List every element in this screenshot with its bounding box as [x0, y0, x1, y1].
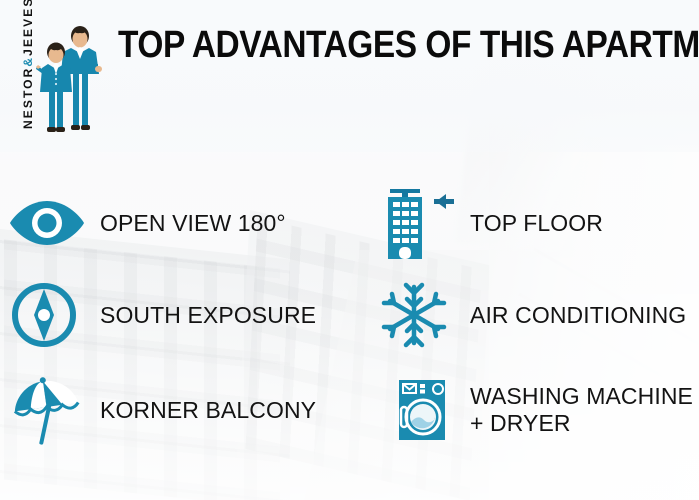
feature-washing-machine[interactable]: WASHING MACHINE + DRYER [378, 364, 698, 456]
feature-open-view[interactable]: OPEN VIEW 180° [8, 180, 368, 266]
advantages-infographic: NESTOR&JEEVES [0, 0, 699, 500]
brand-name-part2: JEEVES [21, 0, 35, 56]
feature-label-south-exposure: SOUTH EXPOSURE [100, 302, 316, 329]
beach-umbrella-icon [8, 373, 86, 447]
brand-name-part1: NESTOR [21, 67, 35, 129]
feature-top-floor[interactable]: TOP FLOOR [378, 180, 698, 266]
feature-label-korner-balcony: KORNER BALCONY [100, 397, 316, 424]
feature-korner-balcony[interactable]: KORNER BALCONY [8, 364, 368, 456]
eye-icon [8, 195, 86, 251]
brand-logo[interactable]: NESTOR&JEEVES [8, 8, 104, 140]
feature-label-air-conditioning: AIR CONDITIONING [470, 302, 686, 329]
brand-name: NESTOR&JEEVES [21, 5, 35, 129]
washing-machine-icon [378, 374, 456, 446]
feature-south-exposure[interactable]: SOUTH EXPOSURE [8, 272, 368, 358]
feature-label-open-view: OPEN VIEW 180° [100, 210, 286, 237]
compass-icon [8, 279, 86, 351]
brand-ampersand: & [21, 56, 35, 67]
feature-label-top-floor: TOP FLOOR [470, 210, 603, 237]
snowflake-icon [378, 281, 456, 349]
building-arrow-icon [378, 183, 456, 263]
features-grid: OPEN VIEW 180° [0, 160, 699, 500]
feature-label-washing-machine: WASHING MACHINE + DRYER [470, 383, 693, 436]
page-title: TOP ADVANTAGES OF THIS APARTMENT [118, 24, 699, 67]
feature-air-conditioning[interactable]: AIR CONDITIONING [378, 272, 698, 358]
header-bar: NESTOR&JEEVES [0, 0, 699, 152]
butler-mascot-icon [36, 18, 104, 138]
